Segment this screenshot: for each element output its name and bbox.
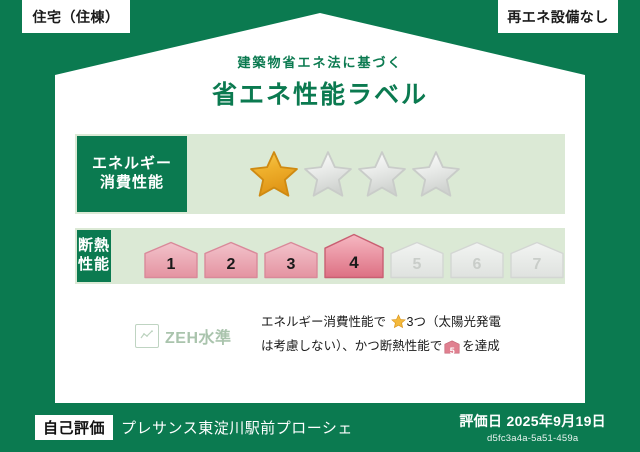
insulation-step-5: 5: [389, 241, 445, 279]
house-rating-scale: 1234567: [143, 233, 565, 279]
inline-star-icon: [387, 318, 405, 332]
tab-building-type: 住宅（住棟）: [22, 0, 130, 33]
page-title: 省エネ性能ラベル: [0, 75, 640, 111]
zeh-check-icon: [135, 324, 159, 348]
zeh-desc-part2: 3つ（太陽光発電: [407, 315, 501, 329]
evaluation-date-block: 評価日 2025年9月19日 d5fc3a4a-5a51-459a: [459, 411, 606, 444]
energy-rating-content: [187, 149, 565, 199]
insulation-label-text: 断熱性能: [77, 237, 111, 275]
insulation-step-2: 2: [203, 241, 259, 279]
energy-performance-row: エネルギー 消費性能: [75, 134, 565, 214]
energy-performance-label: 住宅（住棟） 再エネ設備なし 建築物省エネ法に基づく 省エネ性能ラベル エネルギ…: [0, 0, 640, 452]
insulation-rating-content: 1234567: [111, 233, 565, 279]
zeh-desc-part1: エネルギー消費性能で: [261, 315, 386, 329]
zeh-desc-part4: を達成: [462, 339, 500, 353]
star-empty-icon: [411, 149, 461, 199]
heading-block: 建築物省エネ法に基づく 省エネ性能ラベル: [0, 52, 640, 111]
evaluation-id: d5fc3a4a-5a51-459a: [459, 433, 606, 444]
insulation-performance-row: 断熱性能 1234567: [75, 228, 565, 284]
zeh-section: ZEH水準 エネルギー消費性能で 3つ（太陽光発電 は考慮しない）、かつ断熱性能…: [75, 312, 575, 360]
insulation-step-6: 6: [449, 241, 505, 279]
energy-label-line2: 消費性能: [100, 174, 164, 193]
zeh-label: ZEH水準: [165, 324, 232, 348]
zeh-badge: ZEH水準: [135, 324, 257, 348]
sub-heading: 建築物省エネ法に基づく: [0, 52, 640, 71]
zeh-desc-part3: は考慮しない）、かつ断熱性能で: [261, 339, 442, 353]
energy-performance-label: エネルギー 消費性能: [77, 136, 187, 212]
footer-bar: 自己評価 プレサンス東淀川駅前プローシェ 評価日 2025年9月19日 d5fc…: [0, 403, 640, 452]
zeh-description: エネルギー消費性能で 3つ（太陽光発電 は考慮しない）、かつ断熱性能で 5 を達…: [261, 312, 501, 360]
insulation-step-7: 7: [509, 241, 565, 279]
inline-house-icon: 5: [444, 340, 460, 361]
self-evaluation-badge: 自己評価: [35, 415, 113, 440]
evaluation-date-label: 評価日: [459, 413, 502, 429]
tab-renewable-equipment: 再エネ設備なし: [498, 0, 618, 33]
evaluation-date: 評価日 2025年9月19日: [459, 411, 606, 431]
inline-house-number: 5: [444, 344, 460, 359]
star-empty-icon: [357, 149, 407, 199]
evaluation-date-value: 2025年9月19日: [506, 413, 606, 429]
star-empty-icon: [303, 149, 353, 199]
energy-label-line1: エネルギー: [92, 155, 172, 174]
insulation-performance-label: 断熱性能: [77, 230, 111, 282]
insulation-step-3: 3: [263, 241, 319, 279]
star-rating: [249, 149, 461, 199]
insulation-step-1: 1: [143, 241, 199, 279]
star-filled-icon: [249, 149, 299, 199]
insulation-step-4: 4: [323, 233, 385, 279]
building-name: プレサンス東淀川駅前プローシェ: [121, 417, 353, 438]
